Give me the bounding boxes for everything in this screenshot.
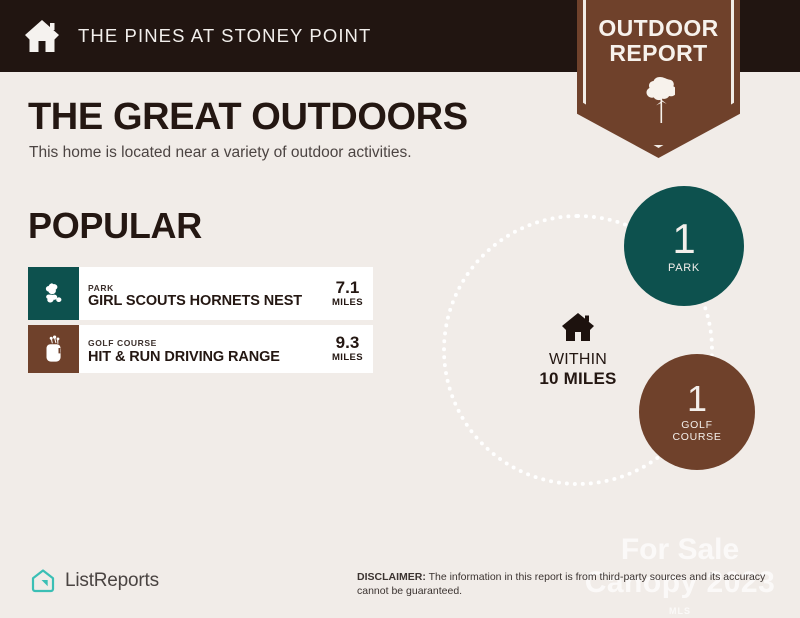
badge-text: OUTDOOR REPORT [577, 16, 740, 66]
poi-distance-unit: MILES [332, 352, 363, 364]
count-label: PARK [668, 262, 700, 275]
listreports-logo[interactable]: ListReports [30, 568, 159, 594]
section-title-popular: POPULAR [28, 205, 202, 247]
listreports-house-icon [30, 568, 56, 594]
disclaimer-label: DISCLAIMER: [357, 571, 426, 583]
list-item[interactable]: GOLF COURSE HIT & RUN DRIVING RANGE 9.3 … [28, 325, 373, 373]
park-tree-icon [41, 281, 67, 307]
poi-category: PARK [88, 283, 328, 294]
poi-icon-box [28, 325, 79, 373]
disclaimer: DISCLAIMER: The information in this repo… [357, 570, 777, 598]
property-name: THE PINES AT STONEY POINT [78, 25, 371, 47]
watermark-line1: For Sale [560, 533, 800, 566]
tree-icon [645, 75, 675, 123]
popular-list: PARK GIRL SCOUTS HORNETS NEST 7.1 MILES [28, 267, 373, 378]
page-subtitle: This home is located near a variety of o… [29, 144, 412, 162]
list-item[interactable]: PARK GIRL SCOUTS HORNETS NEST 7.1 MILES [28, 267, 373, 320]
radius-label-line2: 10 MILES [513, 369, 643, 389]
poi-distance-value: 9.3 [332, 334, 363, 352]
poi-distance: 7.1 MILES [328, 267, 373, 320]
poi-name: HIT & RUN DRIVING RANGE [88, 349, 328, 365]
poi-body: GOLF COURSE HIT & RUN DRIVING RANGE [79, 325, 328, 373]
count-circle-park[interactable]: 1 PARK [624, 186, 744, 306]
home-icon [561, 312, 595, 342]
watermark-line3: MLS [560, 595, 800, 618]
count-label-line2: COURSE [672, 431, 721, 444]
badge-line-1: OUTDOOR [577, 16, 740, 41]
count-circle-golf-course[interactable]: 1 GOLF COURSE [639, 354, 755, 470]
outdoor-report-page: THE PINES AT STONEY POINT OUTDOOR REPORT… [0, 0, 800, 618]
count-value: 1 [687, 381, 707, 417]
count-label-line1: GOLF [672, 419, 721, 432]
radius-label-line1: WITHIN [513, 350, 643, 369]
poi-icon-box [28, 267, 79, 320]
radius-center-group: WITHIN 10 MILES [513, 312, 643, 389]
badge-line-2: REPORT [577, 41, 740, 66]
poi-distance-unit: MILES [332, 297, 363, 309]
poi-distance-value: 7.1 [332, 279, 363, 297]
count-label: GOLF COURSE [672, 419, 721, 444]
poi-body: PARK GIRL SCOUTS HORNETS NEST [79, 267, 328, 320]
poi-distance: 9.3 MILES [328, 325, 373, 373]
poi-category: GOLF COURSE [88, 338, 328, 349]
listreports-logo-text: ListReports [65, 570, 159, 592]
golf-bag-icon [42, 335, 66, 363]
home-icon [24, 19, 60, 53]
page-title: THE GREAT OUTDOORS [28, 96, 468, 139]
poi-name: GIRL SCOUTS HORNETS NEST [88, 294, 328, 309]
count-value: 1 [672, 218, 695, 260]
